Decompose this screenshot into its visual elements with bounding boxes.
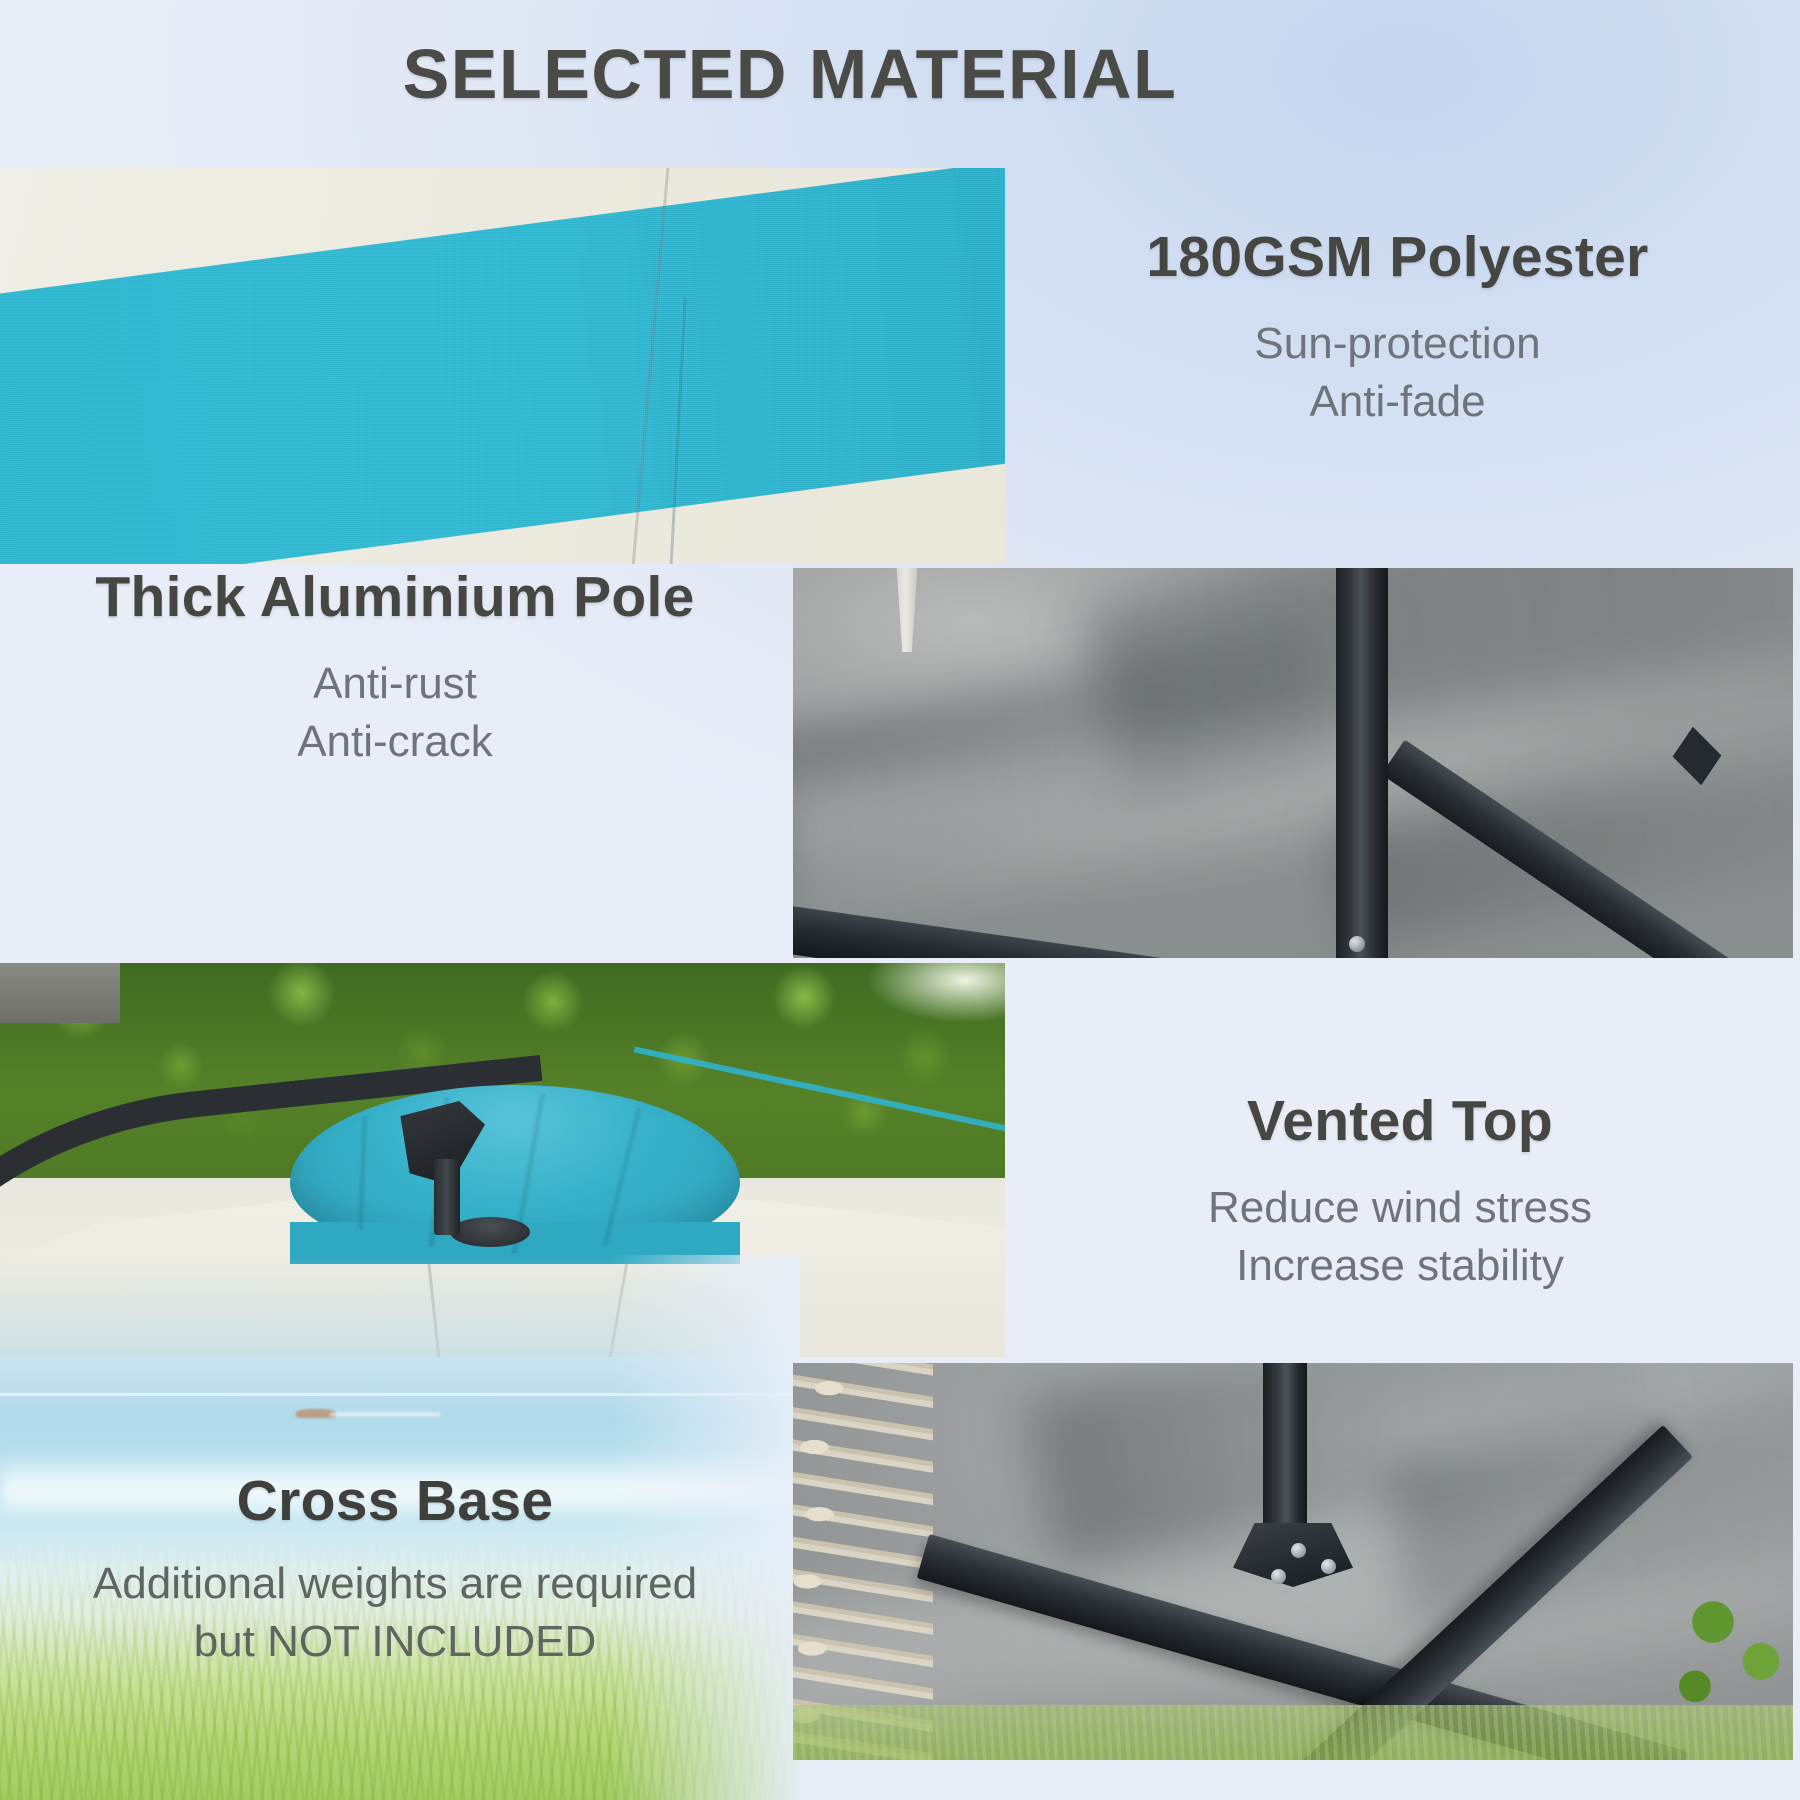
- base-bolt: [1349, 936, 1365, 952]
- aluminium-pole-photo: [793, 568, 1793, 958]
- base-arm-left: [793, 898, 1410, 958]
- feature-desc-line: but NOT INCLUDED: [194, 1617, 597, 1666]
- fabric-swatch-photo: [0, 168, 1005, 564]
- feature-heading-pole: Thick Aluminium Pole: [0, 566, 790, 629]
- feature-desc-pole: Anti-rust Anti-crack: [0, 655, 790, 771]
- base-bolt: [1271, 1569, 1286, 1584]
- table-leg: [890, 568, 924, 652]
- feature-text-pole: Thick Aluminium Pole Anti-rust Anti-crac…: [0, 566, 790, 771]
- feature-desc-line: Additional weights are required: [93, 1559, 697, 1608]
- base-bolt: [1291, 1543, 1306, 1558]
- leaf-cluster: [1653, 1580, 1793, 1720]
- feature-text-polyester: 180GSM Polyester Sun-protection Anti-fad…: [995, 226, 1800, 431]
- base-bolt: [1321, 1559, 1336, 1574]
- cross-base-photo: [793, 1363, 1793, 1760]
- umbrella-pole: [1336, 568, 1388, 958]
- feature-heading-vent: Vented Top: [1000, 1090, 1800, 1153]
- feature-desc-polyester: Sun-protection Anti-fade: [995, 315, 1800, 431]
- feature-desc-line: Anti-rust: [313, 659, 477, 708]
- feature-desc-line: Sun-protection: [1254, 319, 1540, 368]
- grass-foreground: [793, 1705, 1793, 1760]
- umbrella-pole: [1263, 1363, 1307, 1528]
- rope-fringe-knots: [793, 1363, 913, 1760]
- feature-desc-base: Additional weights are required but NOT …: [0, 1555, 790, 1671]
- page-title-text: SELECTED MATERIAL: [403, 34, 1178, 114]
- feature-desc-line: Increase stability: [1236, 1241, 1564, 1290]
- feature-text-vent: Vented Top Reduce wind stress Increase s…: [1000, 1090, 1800, 1295]
- feature-heading-polyester: 180GSM Polyester: [995, 226, 1800, 289]
- infographic-canvas: SELECTED MATERIAL: [0, 0, 1800, 1800]
- feature-desc-line: Reduce wind stress: [1208, 1183, 1592, 1232]
- feature-desc-vent: Reduce wind stress Increase stability: [1000, 1179, 1800, 1295]
- pole-joint-pin: [434, 1159, 460, 1235]
- feature-text-base: Cross Base Additional weights are requir…: [0, 1470, 790, 1671]
- feature-heading-base: Cross Base: [0, 1470, 790, 1533]
- background-wall: [0, 963, 120, 1023]
- canopy-hub: [450, 1217, 530, 1247]
- page-title: SELECTED MATERIAL: [0, 34, 1800, 114]
- feature-desc-line: Anti-fade: [1309, 377, 1485, 426]
- fabric-weave-texture: [0, 168, 1005, 564]
- feature-desc-line: Anti-crack: [297, 717, 493, 766]
- boat-wake: [330, 1413, 440, 1416]
